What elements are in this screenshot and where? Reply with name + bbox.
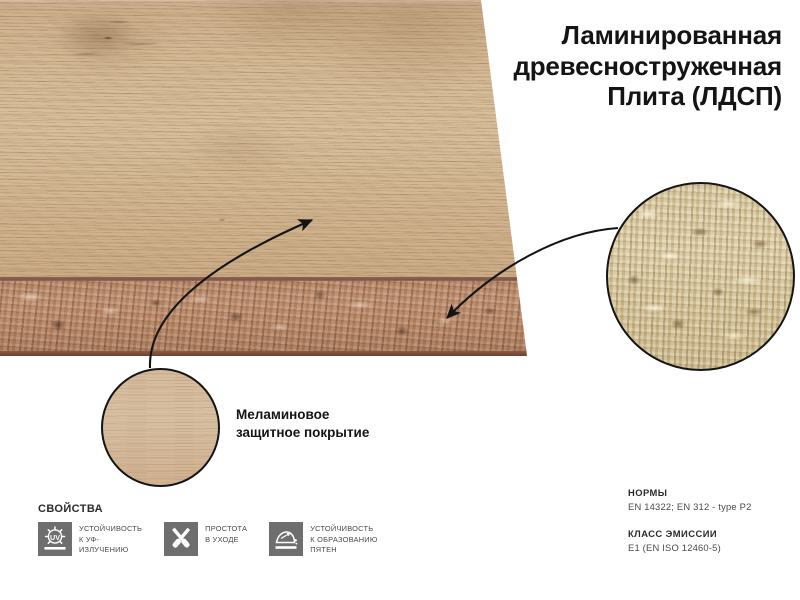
norms-heading: НОРМЫ [628, 487, 793, 498]
property-stain-resistance-label: УСТОЙЧИВОСТЬ К ОБРАЗОВАНИЮ ПЯТЕН [310, 522, 377, 556]
svg-text:UV: UV [50, 533, 60, 542]
property-uv-resistance-label: УСТОЙЧИВОСТЬ К УФ- ИЗЛУЧЕНИЮ [79, 522, 142, 556]
care-label-line-2: В УХОДЕ [205, 535, 247, 546]
board-core-particleboard-edge [0, 281, 550, 353]
care-label-line-1: ПРОСТОТА [205, 524, 247, 535]
page-title: Ламинированная древесностружечная Плита … [352, 20, 782, 112]
easy-care-brush-icon [164, 522, 198, 556]
norms-section: НОРМЫ EN 14322; EN 312 - type P2 КЛАСС Э… [628, 487, 793, 553]
uv-label-line-2: К УФ- [79, 535, 142, 546]
page-title-line-1: Ламинированная [352, 20, 782, 51]
melamine-label-line-2: защитное покрытие [236, 424, 466, 442]
property-easy-care: ПРОСТОТА В УХОДЕ [164, 522, 247, 556]
property-uv-resistance: UV УСТОЙЧИВОСТЬ К УФ- ИЗЛУЧЕНИЮ [38, 522, 142, 556]
stain-label-line-2: К ОБРАЗОВАНИЮ [310, 535, 377, 546]
melamine-surface-zoom-circle [101, 368, 220, 487]
norms-spacer [628, 512, 793, 528]
stain-label-line-1: УСТОЙЧИВОСТЬ [310, 524, 377, 535]
page-title-line-2: древесностружечная [352, 51, 782, 82]
properties-section: СВОЙСТВА [38, 503, 378, 556]
properties-row: UV УСТОЙЧИВОСТЬ К УФ- ИЗЛУЧЕНИЮ [38, 522, 378, 556]
board-top-highlight [0, 0, 550, 3]
stain-resistance-icon [269, 522, 303, 556]
property-easy-care-label: ПРОСТОТА В УХОДЕ [205, 522, 247, 545]
melamine-callout-label: Меламиновое защитное покрытие [236, 406, 466, 442]
uv-label-line-1: УСТОЙЧИВОСТЬ [79, 524, 142, 535]
emission-class-value: E1 (EN ISO 12460-5) [628, 542, 793, 553]
emission-class-heading: КЛАСС ЭМИССИИ [628, 528, 793, 539]
page-title-line-3: Плита (ЛДСП) [352, 81, 782, 112]
uv-label-line-3: ИЗЛУЧЕНИЮ [79, 545, 142, 556]
property-stain-resistance: УСТОЙЧИВОСТЬ К ОБРАЗОВАНИЮ ПЯТЕН [269, 522, 377, 556]
properties-heading: СВОЙСТВА [38, 503, 378, 515]
norms-value: EN 14322; EN 312 - type P2 [628, 501, 793, 512]
melamine-label-line-1: Меламиновое [236, 406, 466, 424]
board-bottom-edge-line [0, 351, 550, 356]
particleboard-core-zoom-circle [606, 182, 795, 371]
stain-label-line-3: ПЯТЕН [310, 545, 377, 556]
uv-resistance-icon: UV [38, 522, 72, 556]
infographic-canvas: Ламинированная древесностружечная Плита … [0, 0, 800, 600]
